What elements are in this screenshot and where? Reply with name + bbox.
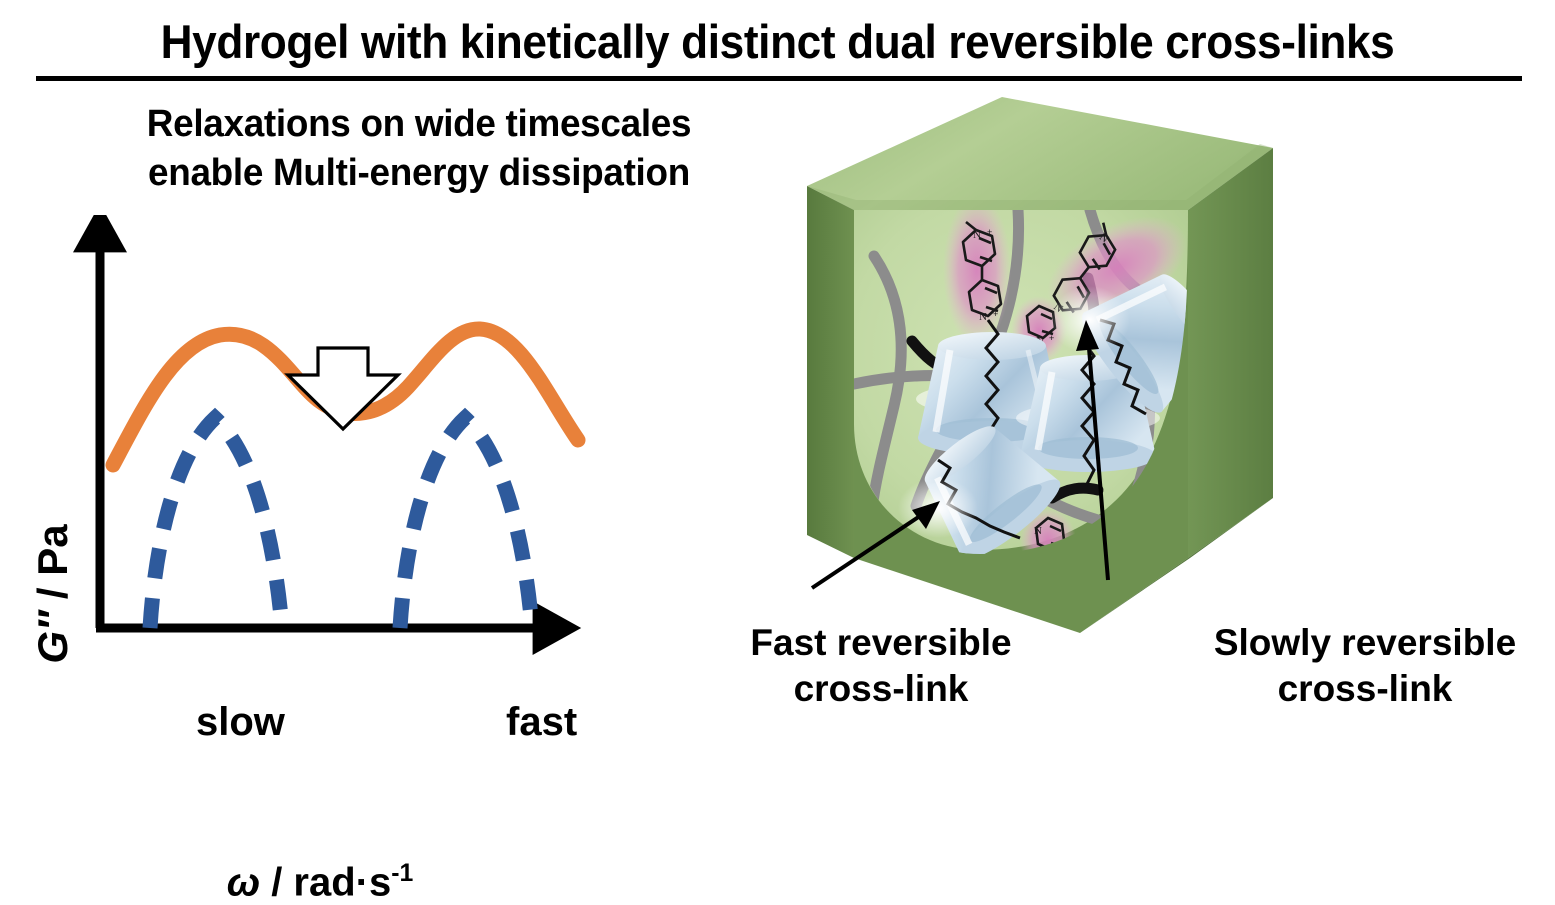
svg-text:N: N (1034, 525, 1042, 537)
title-underline (36, 76, 1522, 81)
svg-text:N: N (973, 229, 981, 241)
upward-block-arrow-icon (288, 348, 398, 429)
x-axis-units: / rad·s (260, 860, 391, 904)
svg-text:+: + (987, 227, 992, 237)
svg-text:N: N (979, 311, 987, 323)
caption-fast-line-1: Fast reversible (716, 620, 1046, 666)
x-axis-symbol: ω (227, 860, 260, 904)
caption-slow-line-1: Slowly reversible (1190, 620, 1540, 666)
caption-fast-line-2: cross-link (716, 666, 1046, 712)
plot-svg (0, 215, 800, 675)
slow-relaxation-curve (150, 418, 282, 628)
highlight-glow (898, 478, 978, 538)
graphical-abstract: Hydrogel with kinetically distinct dual … (0, 0, 1555, 749)
viologen-glow (943, 194, 1011, 346)
cube-svg: N + N + N N (790, 88, 1290, 633)
y-axis-label: G″ / Pa (29, 479, 77, 709)
slow-curve-label: slow (196, 700, 285, 745)
svg-text:+: + (1049, 333, 1054, 343)
cube-right-face (1188, 148, 1273, 558)
caption-slow-crosslink: Slowly reversible cross-link (1190, 620, 1540, 712)
page-title: Hydrogel with kinetically distinct dual … (47, 14, 1509, 69)
hydrogel-network-cube: N + N + N N (790, 88, 1290, 628)
fast-curve-label: fast (506, 700, 577, 745)
x-axis-label: ω / rad·s-1 (150, 860, 490, 905)
subtitle-line-1: Relaxations on wide timescales (36, 100, 802, 149)
caption-fast-crosslink: Fast reversible cross-link (716, 620, 1046, 712)
y-axis-units: / Pa (29, 524, 76, 610)
y-axis-symbol: G″ (29, 611, 76, 664)
x-axis-exponent: -1 (391, 860, 413, 887)
caption-slow-line-2: cross-link (1190, 666, 1540, 712)
fast-relaxation-curve (400, 418, 532, 628)
subtitle: Relaxations on wide timescales enable Mu… (36, 100, 802, 198)
relaxation-spectrum-plot: slow fast G″ / Pa ω / rad·s-1 (0, 215, 800, 675)
subtitle-line-2: enable Multi-energy dissipation (36, 149, 802, 198)
svg-text:+: + (993, 309, 998, 319)
cube-left-face (807, 186, 854, 558)
